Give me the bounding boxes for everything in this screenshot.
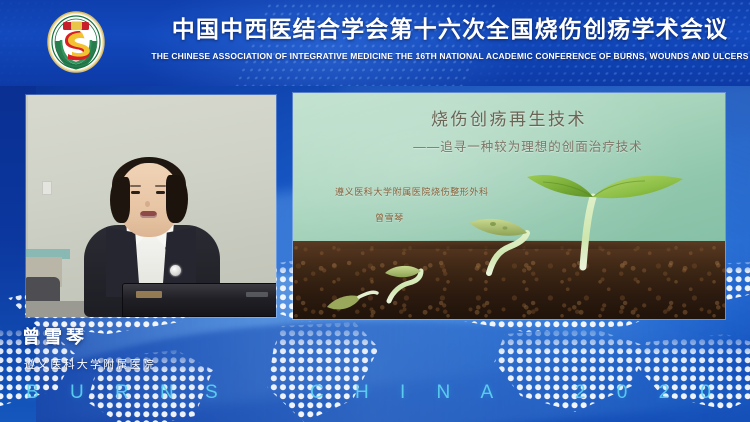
presentation-slide[interactable]: 烧伤创疡再生技术 ——追寻一种较为理想的创面治疗技术 遵义医科大学附属医院烧伤整…: [293, 93, 725, 319]
broadcast-screen: 中国中西医结合学会第十六次全国烧伤创疡学术会议 THE CHINESE ASSO…: [0, 0, 750, 422]
slide-heading-group: 烧伤创疡再生技术 ——追寻一种较为理想的创面治疗技术: [293, 105, 725, 155]
footer-brand-china: C H I N A: [310, 382, 506, 404]
laptop-lid: [122, 283, 276, 317]
conference-header-banner: 中国中西医结合学会第十六次全国烧伤创疡学术会议 THE CHINESE ASSO…: [0, 0, 750, 86]
presenter-mouth: [140, 211, 157, 218]
laptop-brand-mark: [246, 292, 268, 297]
presenter-badge-pin: [170, 265, 181, 276]
conference-title-chinese: 中国中西医结合学会第十六次全国烧伤创疡学术会议: [150, 14, 750, 44]
speaker-name: 曾雪琴: [22, 323, 156, 349]
slide-title: 烧伤创疡再生技术: [293, 105, 725, 130]
speaker-organization: 遵义医科大学附属医院: [24, 356, 156, 372]
speaker-video-feed[interactable]: [26, 95, 276, 317]
conference-title-english: THE CHINESE ASSOCIATION OF INTEGRATIVE M…: [150, 51, 750, 61]
presenter-nose: [145, 201, 150, 207]
footer-brand-burns: B U R N S: [26, 382, 231, 404]
presenter-hair-left: [110, 177, 130, 223]
presenter-eye-right: [156, 191, 165, 194]
presenter-brow-right: [155, 185, 166, 187]
slide-subtitle: ——追寻一种较为理想的创面治疗技术: [293, 136, 725, 155]
presenter-eye-left: [131, 191, 140, 194]
laptop-sticker: [136, 291, 162, 298]
laptop-device: [122, 279, 276, 317]
slide-author: 曾雪琴: [375, 211, 404, 224]
footer-brand-china-wrap: C H I N A: [310, 380, 506, 406]
header-title-group: 中国中西医结合学会第十六次全国烧伤创疡学术会议 THE CHINESE ASSO…: [150, 14, 750, 61]
wall-switch: [42, 181, 52, 195]
lower-third-speaker-info: 曾雪琴 遵义医科大学附属医院: [22, 323, 156, 372]
presenter-brow-left: [130, 185, 141, 187]
footer-brand-year: 2 0 2 0: [575, 382, 724, 404]
slide-organization: 遵义医科大学附属医院烧伤整形外科: [335, 185, 489, 198]
presenter-hair-right: [166, 175, 188, 223]
association-emblem-logo: [46, 11, 106, 73]
